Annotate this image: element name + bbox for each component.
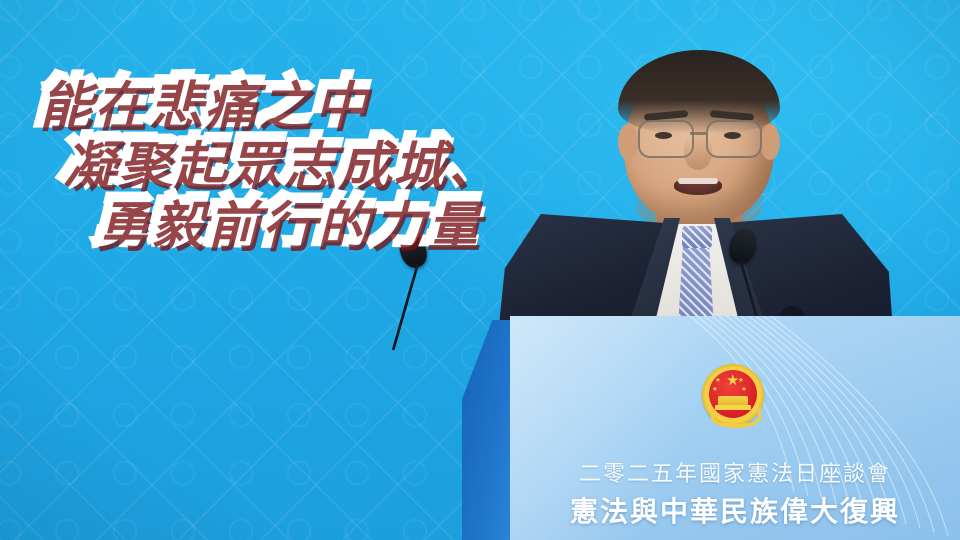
podium-event-title: 憲法與中華民族偉大復興	[510, 490, 960, 530]
eyeglasses-bridge	[690, 132, 706, 135]
headline-line-3-text: 勇毅前行的力量	[92, 189, 477, 252]
speaker-ear-left	[618, 124, 638, 160]
headline-line-1: 能在悲痛之中	[34, 74, 560, 128]
headline-overlay: 能在悲痛之中 凝聚起眾志成城、 勇毅前行的力量	[0, 74, 560, 248]
speaker-nose	[684, 136, 712, 170]
podium: ★ ★ ★ ★ ★ 二零二五年國家憲法日座談會 憲法與中華民族偉大復興	[462, 316, 960, 540]
emblem-wheat-arc	[711, 408, 761, 428]
eyeglasses-lens-right	[706, 120, 762, 158]
emblem-star-small-1: ★	[715, 378, 721, 385]
headline-line-2-text: 凝聚起眾志成城、	[58, 129, 498, 192]
speaker-ear-right	[760, 124, 780, 160]
headline-line-2: 凝聚起眾志成城、	[58, 134, 560, 188]
emblem-star-small-4: ★	[741, 387, 747, 394]
podium-side-panel	[462, 320, 516, 540]
national-emblem-icon: ★ ★ ★ ★ ★	[702, 364, 764, 426]
emblem-star-small-3: ★	[738, 378, 744, 385]
emblem-star-small-2: ★	[712, 387, 718, 394]
headline-line-3: 勇毅前行的力量	[92, 194, 560, 248]
necktie-knot	[682, 226, 712, 248]
speaker-teeth	[678, 178, 718, 184]
podium-event-subtitle: 二零二五年國家憲法日座談會	[510, 456, 960, 488]
broadcast-screenshot: ★ ★ ★ ★ ★ 二零二五年國家憲法日座談會 憲法與中華民族偉大復興 能在悲痛…	[0, 0, 960, 540]
headline-line-1-text: 能在悲痛之中	[34, 69, 364, 132]
